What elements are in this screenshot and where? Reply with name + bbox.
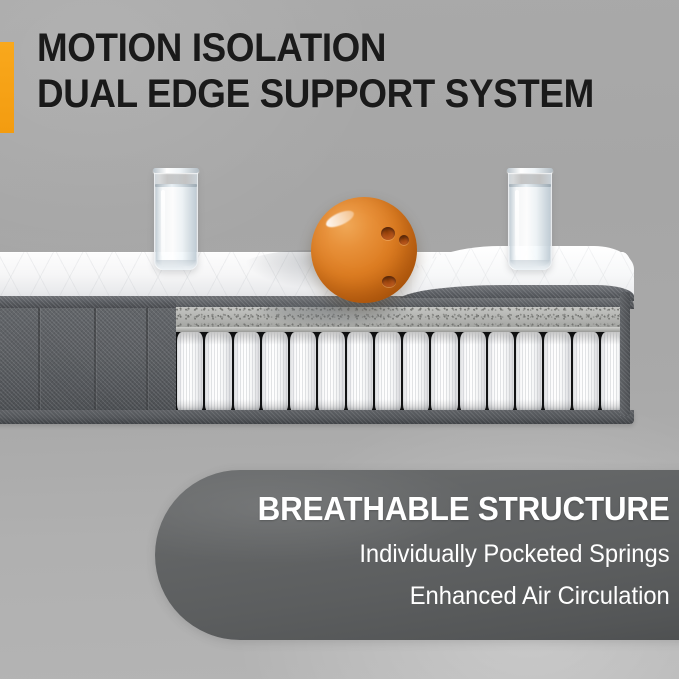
- glass-rim: [507, 168, 553, 173]
- panel-subline-2: Enhanced Air Circulation: [410, 580, 670, 612]
- pocketed-spring: [431, 332, 457, 412]
- water-line: [509, 184, 551, 187]
- ball-highlight: [324, 207, 356, 230]
- mattress-cross-section: [0, 252, 634, 428]
- water-line: [155, 184, 197, 187]
- ball-finger-hole-3: [382, 276, 396, 287]
- pocketed-spring: [375, 332, 401, 412]
- pocketed-spring: [347, 332, 373, 412]
- pocketed-spring: [544, 332, 570, 412]
- product-feature-banner: MOTION ISOLATION DUAL EDGE SUPPORT SYSTE…: [0, 0, 679, 679]
- orange-accent-bar: [0, 42, 14, 133]
- pocketed-spring-row: [176, 332, 628, 412]
- glass-rim: [153, 168, 199, 173]
- glass-highlight: [515, 190, 519, 256]
- mattress-right-end-cap: [620, 292, 630, 416]
- headline-line-1: MOTION ISOLATION: [37, 25, 617, 71]
- pocketed-spring: [290, 332, 316, 412]
- pocketed-spring: [205, 332, 231, 412]
- headline-line-2: DUAL EDGE SUPPORT SYSTEM: [37, 71, 617, 117]
- pocketed-spring: [516, 332, 542, 412]
- panel-heading: BREATHABLE STRUCTURE: [258, 489, 670, 529]
- pocketed-spring: [318, 332, 344, 412]
- water-glass-left: [154, 168, 198, 270]
- bowling-ball: [311, 197, 417, 303]
- mattress-base-rail: [0, 410, 634, 424]
- pocketed-spring: [234, 332, 260, 412]
- glass-base: [156, 260, 196, 270]
- fabric-side-panel: [0, 308, 176, 420]
- pocketed-spring: [403, 332, 429, 412]
- ball-finger-hole-1: [381, 227, 395, 240]
- panel-subline-1: Individually Pocketed Springs: [360, 538, 670, 570]
- pocketed-spring: [262, 332, 288, 412]
- side-panel-seam: [38, 308, 40, 420]
- pocketed-spring: [460, 332, 486, 412]
- side-panel-seam: [94, 308, 96, 420]
- glass-highlight: [161, 190, 165, 256]
- ball-finger-hole-2: [399, 235, 409, 245]
- glass-base: [510, 260, 550, 270]
- breathable-structure-panel: BREATHABLE STRUCTURE Individually Pocket…: [155, 470, 679, 640]
- pocketed-spring: [488, 332, 514, 412]
- pocketed-spring: [573, 332, 599, 412]
- headline-block: MOTION ISOLATION DUAL EDGE SUPPORT SYSTE…: [37, 25, 667, 117]
- water-glass-right: [508, 168, 552, 270]
- pocketed-spring: [177, 332, 203, 412]
- foam-compression-dip: [242, 304, 422, 334]
- side-panel-seam: [146, 308, 148, 420]
